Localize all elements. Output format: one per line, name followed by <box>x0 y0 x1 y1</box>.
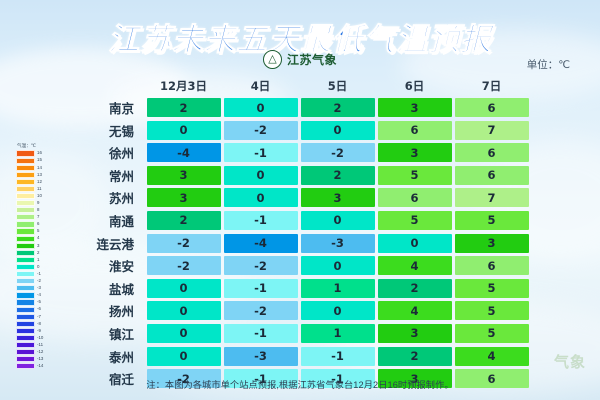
temperature-cell: 5 <box>455 279 529 298</box>
legend-value: 6 <box>37 222 39 226</box>
temperature-cell: 2 <box>378 347 452 366</box>
legend-swatch <box>16 314 35 320</box>
temperature-cell: 4 <box>378 301 452 320</box>
legend-value: 10 <box>37 194 42 198</box>
temperature-cell: -1 <box>224 143 298 162</box>
temperature-cell: 6 <box>455 256 529 275</box>
temperature-cell: 0 <box>301 121 375 140</box>
city-label: 南通 <box>60 211 145 230</box>
legend-row: 10 <box>16 193 49 200</box>
legend-value: 15 <box>37 158 42 162</box>
legend-value: -10 <box>37 336 43 340</box>
temperature-cell: 0 <box>301 301 375 320</box>
legend-value: 13 <box>37 173 42 177</box>
temperature-cell: -3 <box>224 347 298 366</box>
city-label: 连云港 <box>60 234 145 253</box>
table-row: 连云港-2-4-303 <box>60 233 530 254</box>
legend-value: -11 <box>37 343 43 347</box>
legend-value: 7 <box>37 215 39 219</box>
legend-swatch <box>16 179 35 185</box>
footnote: 注：本图为各城市单个站点预报,根据江苏省气象台12月2日16时预报制作。 <box>0 377 600 391</box>
legend-value: -7 <box>37 315 41 319</box>
temperature-cell: 6 <box>455 98 529 117</box>
temperature-cell: 0 <box>301 211 375 230</box>
temperature-cell: -1 <box>224 324 298 343</box>
legend-swatch <box>16 349 35 355</box>
temperature-cell: -2 <box>147 256 221 275</box>
legend-row: -13 <box>16 356 49 363</box>
temperature-cell: 3 <box>147 188 221 207</box>
legend-row: 4 <box>16 235 49 242</box>
city-label: 盐城 <box>60 279 145 298</box>
legend-row: -14 <box>16 363 49 370</box>
table-body: 南京20236无锡0-2067徐州-4-1-236常州30256苏州30367南… <box>60 97 530 389</box>
temperature-cell: 0 <box>147 324 221 343</box>
column-header: 4日 <box>222 78 299 94</box>
temperature-cell: 5 <box>455 211 529 230</box>
legend-swatch <box>16 158 35 164</box>
temperature-cell: 6 <box>455 143 529 162</box>
temperature-cell: 2 <box>301 166 375 185</box>
city-label: 徐州 <box>60 143 145 162</box>
legend-swatch <box>16 150 35 156</box>
legend-row: 2 <box>16 249 49 256</box>
column-header: 12月3日 <box>145 78 222 94</box>
temperature-cell: 6 <box>378 188 452 207</box>
legend-value: -6 <box>37 307 41 311</box>
city-label: 常州 <box>60 166 145 185</box>
temperature-cell: 1 <box>301 324 375 343</box>
temperature-cell: 5 <box>455 324 529 343</box>
temperature-cell: 5 <box>378 211 452 230</box>
temperature-cell: 2 <box>147 211 221 230</box>
city-label: 苏州 <box>60 188 145 207</box>
legend-value: -1 <box>37 272 41 276</box>
legend-value: 3 <box>37 244 39 248</box>
temperature-cell: 2 <box>378 279 452 298</box>
temperature-cell: 3 <box>301 188 375 207</box>
temperature-cell: -2 <box>224 256 298 275</box>
legend-swatch <box>16 257 35 263</box>
legend-swatch <box>16 236 35 242</box>
column-header: 6日 <box>376 78 453 94</box>
temperature-cell: 4 <box>455 347 529 366</box>
legend-row: 1 <box>16 256 49 263</box>
legend-stop-list: 161514131211109876543210-1-2-3-4-5-6-7-8… <box>16 150 49 370</box>
temperature-cell: 5 <box>378 166 452 185</box>
city-label: 南京 <box>60 98 145 117</box>
legend-value: -5 <box>37 300 41 304</box>
legend-value: -14 <box>37 364 43 368</box>
legend-title: 气温：℃ <box>16 143 49 149</box>
weather-bureau-emblem-icon: △ <box>263 50 282 69</box>
legend-row: 6 <box>16 221 49 228</box>
legend-row: 9 <box>16 200 49 207</box>
legend-value: -12 <box>37 350 43 354</box>
legend-swatch <box>16 328 35 334</box>
legend-swatch <box>16 214 35 220</box>
legend-row: -10 <box>16 334 49 341</box>
table-row: 泰州0-3-124 <box>60 346 530 367</box>
legend-value: -4 <box>37 293 41 297</box>
legend-row: -1 <box>16 271 49 278</box>
legend-swatch <box>16 335 35 341</box>
legend-value: 2 <box>37 251 39 255</box>
temperature-cell: 3 <box>147 166 221 185</box>
legend-row: -3 <box>16 285 49 292</box>
temperature-cell: 0 <box>147 121 221 140</box>
legend-value: 12 <box>37 180 42 184</box>
legend-swatch <box>16 250 35 256</box>
table-row: 无锡0-2067 <box>60 120 530 141</box>
column-header: 7日 <box>453 78 530 94</box>
temperature-cell: -3 <box>301 234 375 253</box>
legend-value: 1 <box>37 258 39 262</box>
table-row: 常州30256 <box>60 165 530 186</box>
legend-value: 5 <box>37 229 39 233</box>
temperature-cell: 1 <box>301 279 375 298</box>
city-label: 扬州 <box>60 301 145 320</box>
legend-value: -2 <box>37 279 41 283</box>
legend-row: -9 <box>16 327 49 334</box>
table-row: 苏州30367 <box>60 187 530 208</box>
legend-row: -7 <box>16 313 49 320</box>
temperature-cell: 0 <box>147 301 221 320</box>
legend-value: 0 <box>37 265 39 269</box>
legend-swatch <box>16 292 35 298</box>
temperature-cell: 0 <box>224 98 298 117</box>
table-row: 镇江0-1135 <box>60 323 530 344</box>
city-label: 淮安 <box>60 256 145 275</box>
legend-swatch <box>16 264 35 270</box>
watermark: 气象 <box>554 351 586 372</box>
legend-row: -11 <box>16 342 49 349</box>
legend-value: -3 <box>37 286 41 290</box>
legend-row: -12 <box>16 349 49 356</box>
temperature-cell: 3 <box>378 143 452 162</box>
legend-value: 9 <box>37 201 39 205</box>
legend-value: -9 <box>37 329 41 333</box>
temperature-cell: 0 <box>224 188 298 207</box>
legend-swatch <box>16 321 35 327</box>
legend-row: 13 <box>16 171 49 178</box>
table-row: 徐州-4-1-236 <box>60 142 530 163</box>
legend-swatch <box>16 342 35 348</box>
legend-row: 8 <box>16 207 49 214</box>
legend-row: 15 <box>16 157 49 164</box>
temperature-cell: -4 <box>224 234 298 253</box>
legend-row: -4 <box>16 292 49 299</box>
legend-swatch <box>16 165 35 171</box>
legend-row: 11 <box>16 185 49 192</box>
temperature-cell: -2 <box>224 301 298 320</box>
temperature-cell: 3 <box>378 98 452 117</box>
legend-value: 11 <box>37 187 42 191</box>
temperature-cell: 2 <box>301 98 375 117</box>
legend-value: 4 <box>37 236 39 240</box>
legend-value: 8 <box>37 208 39 212</box>
table-row: 南通2-1055 <box>60 210 530 231</box>
temperature-cell: 0 <box>147 347 221 366</box>
legend-row: 14 <box>16 164 49 171</box>
temperature-cell: 6 <box>455 166 529 185</box>
unit-label: 单位：℃ <box>527 57 570 72</box>
temperature-cell: -1 <box>301 347 375 366</box>
legend-swatch <box>16 186 35 192</box>
legend-row: 16 <box>16 150 49 157</box>
table-row: 盐城0-1125 <box>60 278 530 299</box>
legend-value: 14 <box>37 166 42 170</box>
temperature-cell: 7 <box>455 121 529 140</box>
temperature-cell: -2 <box>147 234 221 253</box>
legend-row: 0 <box>16 264 49 271</box>
legend-swatch <box>16 271 35 277</box>
forecast-table: 12月3日4日5日6日7日 南京20236无锡0-2067徐州-4-1-236常… <box>60 78 530 391</box>
temperature-cell: -2 <box>301 143 375 162</box>
temperature-cell: 3 <box>455 234 529 253</box>
legend-row: 5 <box>16 228 49 235</box>
legend-swatch <box>16 307 35 313</box>
legend-swatch <box>16 221 35 227</box>
legend-row: -5 <box>16 299 49 306</box>
city-label: 镇江 <box>60 324 145 343</box>
legend-swatch <box>16 363 35 369</box>
brand-logo: △ 江苏气象 <box>0 50 600 69</box>
legend-swatch <box>16 285 35 291</box>
table-row: 扬州0-2045 <box>60 300 530 321</box>
legend-row: 12 <box>16 178 49 185</box>
temperature-cell: 0 <box>224 166 298 185</box>
legend-swatch <box>16 356 35 362</box>
table-column-headers: 12月3日4日5日6日7日 <box>60 78 530 94</box>
column-header: 5日 <box>299 78 376 94</box>
table-row: 南京20236 <box>60 97 530 118</box>
temperature-cell: 2 <box>147 98 221 117</box>
legend-swatch <box>16 200 35 206</box>
legend-value: -8 <box>37 322 41 326</box>
legend-value: -13 <box>37 357 43 361</box>
legend-row: -2 <box>16 278 49 285</box>
city-label: 泰州 <box>60 347 145 366</box>
legend-swatch <box>16 172 35 178</box>
temperature-color-legend: 气温：℃ 161514131211109876543210-1-2-3-4-5-… <box>16 143 49 370</box>
legend-value: 16 <box>37 151 42 155</box>
legend-swatch <box>16 299 35 305</box>
temperature-cell: -1 <box>224 279 298 298</box>
temperature-cell: 5 <box>455 301 529 320</box>
temperature-cell: 0 <box>301 256 375 275</box>
temperature-cell: 0 <box>147 279 221 298</box>
legend-row: -6 <box>16 306 49 313</box>
legend-swatch <box>16 228 35 234</box>
temperature-cell: 0 <box>378 234 452 253</box>
temperature-cell: 3 <box>378 324 452 343</box>
temperature-cell: -2 <box>224 121 298 140</box>
city-label: 无锡 <box>60 121 145 140</box>
brand-name-label: 江苏气象 <box>287 51 337 68</box>
temperature-cell: 7 <box>455 188 529 207</box>
temperature-cell: -4 <box>147 143 221 162</box>
temperature-cell: 4 <box>378 256 452 275</box>
legend-swatch <box>16 207 35 213</box>
table-row: 淮安-2-2046 <box>60 255 530 276</box>
legend-swatch <box>16 243 35 249</box>
legend-swatch <box>16 193 35 199</box>
legend-row: 7 <box>16 214 49 221</box>
temperature-cell: -1 <box>224 211 298 230</box>
legend-row: -8 <box>16 320 49 327</box>
legend-row: 3 <box>16 242 49 249</box>
temperature-cell: 6 <box>378 121 452 140</box>
legend-swatch <box>16 278 35 284</box>
